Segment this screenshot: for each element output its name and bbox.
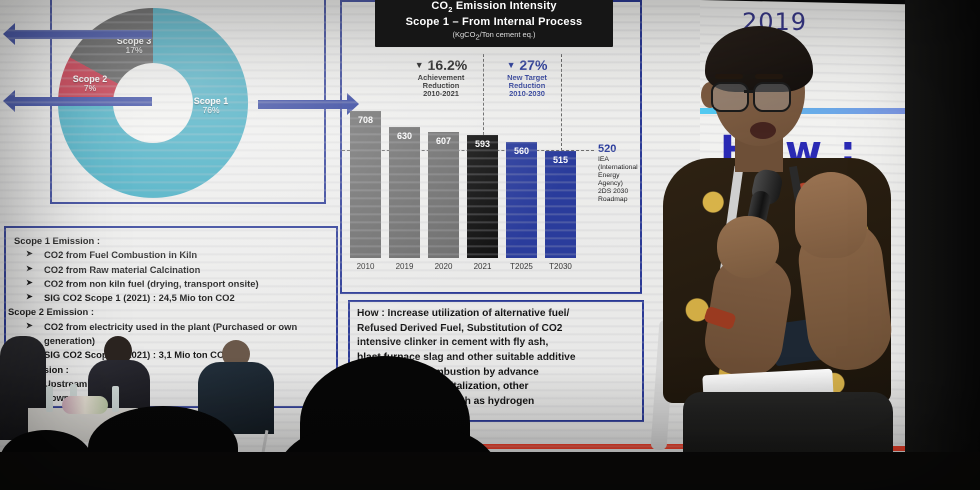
how-line: Refused Derived Fuel, Substitution of CO… (357, 322, 635, 337)
kpi-new-target-reduction: ▼ 27% New Target Reduction 2010-2030 (487, 58, 567, 99)
x-tick-2019: 2019 (389, 262, 420, 271)
bar-2021: 593 (467, 135, 498, 258)
water-bottle (46, 386, 53, 412)
x-tick-2020: 2020 (428, 262, 459, 271)
bar-value-2019: 630 (389, 131, 420, 141)
bar-value-T2025: 560 (506, 146, 537, 156)
scope3-title: pe 3 Emission : (0, 363, 328, 377)
arrow-right-to-chart (258, 100, 348, 109)
x-tick-2010: 2010 (350, 262, 381, 271)
iea-reference-note: 520 IEA (International Energy Agency) 2D… (598, 143, 660, 204)
photo-scene: Scope 1 76% Scope 3 17% Scope 2 7% CO2 E… (0, 0, 980, 490)
scope1-item: SIG CO2 Scope 1 (2021) : 24,5 Mio ton CO… (14, 291, 328, 305)
scope1-item: CO2 from Fuel Combustion in Kiln (14, 248, 328, 262)
scope2-item: CO2 from electricity used in the plant (… (14, 320, 328, 349)
speaker-hand-gesturing (795, 172, 867, 258)
scope-emission-content: Scope 1 Emission : CO2 from Fuel Combust… (6, 228, 336, 426)
scope3-item: Upstream (14, 377, 328, 391)
scope1-item: CO2 from Raw material Calcination (14, 263, 328, 277)
kpi-target-value: ▼ 27% (487, 58, 567, 74)
scope1-item: CO2 from non kiln fuel (drying, transpor… (14, 277, 328, 291)
chart-title-units: (KgCO2/Ton cement eq.) (379, 30, 609, 42)
bar-value-T2030: 515 (545, 155, 576, 165)
kpi-connector-line (483, 54, 484, 135)
speaker-eyebrow-left (715, 74, 743, 79)
x-tick-T2025: T2025 (506, 262, 537, 271)
glasses-lens-right (753, 82, 791, 112)
kpi-achievement-value: ▼ 16.2% (398, 58, 484, 74)
bar-2010: 708 (350, 111, 381, 258)
stage-floor (0, 452, 980, 490)
scope-emission-textbox: Scope 1 Emission : CO2 from Fuel Combust… (4, 226, 338, 408)
bar-T2025: 560 (506, 142, 537, 258)
glasses-bridge (744, 90, 755, 93)
bar-2020: 607 (428, 132, 459, 258)
chart-title-line2: Scope 1 – From Internal Process (379, 16, 609, 28)
bar-value-2020: 607 (428, 136, 459, 146)
bar-plot-area: 7082010630201960720205932021560T2025515T… (348, 100, 588, 258)
bar-2019: 630 (389, 127, 420, 258)
bar-value-2021: 593 (467, 139, 498, 149)
speaker-mouth (750, 122, 776, 139)
scope1-title: Scope 1 Emission : (14, 234, 328, 248)
bar-T2030: 515 (545, 151, 576, 258)
scope2-title: Scope 2 Emission : (8, 305, 328, 319)
speaker-with-microphone (655, 20, 915, 460)
arrow-left-top (14, 30, 152, 39)
x-tick-T2030: T2030 (545, 262, 576, 271)
x-tick-2021: 2021 (467, 262, 498, 271)
how-line: How : Increase utilization of alternativ… (357, 307, 635, 322)
chart-title-banner: CO2 Emission Intensity Scope 1 – From In… (375, 0, 613, 47)
glasses-lens-left (711, 82, 749, 112)
table-flower-arrangement (62, 396, 108, 414)
speaker-hand-holding-mic (717, 216, 779, 278)
arrow-left-bottom (14, 97, 152, 106)
down-triangle-icon-2: ▼ (507, 60, 516, 70)
water-bottle (112, 386, 119, 412)
bar-value-2010: 708 (350, 115, 381, 125)
speaker-eyebrow-right (755, 74, 783, 79)
scope2-item: SIG CO2 Scope 2 (2021) : 3,1 Mio ton CO2 (14, 348, 328, 362)
dark-right-wall (905, 0, 980, 452)
how-line: intensive clinker in cement with fly ash… (357, 336, 635, 351)
kpi-connector-line (561, 54, 562, 151)
down-triangle-icon: ▼ (415, 60, 424, 70)
chart-title-line1: CO2 Emission Intensity (379, 0, 609, 14)
kpi-achievement-reduction: ▼ 16.2% Achievement Reduction 2010-2021 (398, 58, 484, 99)
